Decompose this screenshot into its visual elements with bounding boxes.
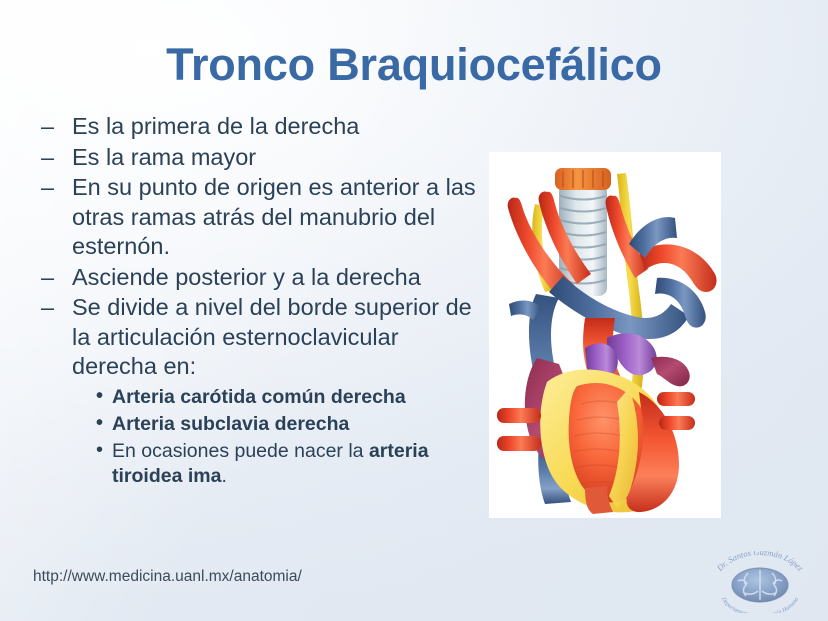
dot-marker-icon: • — [96, 411, 103, 436]
dash-marker-icon: – — [41, 263, 54, 293]
bullet-item-5: – Se divide a nivel del borde superior d… — [38, 293, 488, 382]
sub-bullet-text-3-plain: En ocasiones puede nacer la — [112, 440, 369, 462]
dot-marker-icon: • — [96, 384, 103, 409]
dot-marker-icon: • — [96, 438, 103, 463]
sub-bullet-text-1: Arteria carótida común derecha — [112, 386, 406, 408]
dash-marker-icon: – — [41, 173, 54, 203]
dash-marker-icon: – — [41, 112, 54, 142]
sub-bullet-list: • Arteria carótida común derecha • Arter… — [38, 385, 488, 489]
bullet-text-5: Se divide a nivel del borde superior de … — [72, 294, 472, 379]
sub-bullet-text-2: Arteria subclavia derecha — [112, 413, 349, 435]
dash-marker-icon: – — [41, 143, 54, 173]
bullet-text-3: En su punto de origen es anterior a las … — [72, 174, 476, 259]
brain-emblem-logo: Dr. Santos Guzmán López Departamento de … — [704, 551, 816, 613]
slide-canvas: Tronco Braquiocefálico — [0, 0, 828, 621]
bullet-text-4: Asciende posterior y a la derecha — [72, 264, 421, 290]
bullet-text-1: Es la primera de la derecha — [72, 113, 359, 139]
bullet-list: – Es la primera de la derecha – Es la ra… — [38, 112, 488, 491]
brain-icon — [732, 568, 788, 602]
sub-bullet-text-3-tail: . — [221, 465, 226, 487]
sub-bullet-item-2: • Arteria subclavia derecha — [38, 412, 488, 437]
page-title: Tronco Braquiocefálico — [0, 38, 828, 92]
bullet-item-4: – Asciende posterior y a la derecha — [38, 263, 488, 293]
sub-bullet-item-1: • Arteria carótida común derecha — [38, 385, 488, 410]
bullet-item-1: – Es la primera de la derecha — [38, 112, 488, 142]
bullet-item-3: – En su punto de origen es anterior a la… — [38, 173, 488, 262]
sub-bullet-item-3: • En ocasiones puede nacer la arteria ti… — [38, 439, 488, 489]
bullet-text-2: Es la rama mayor — [72, 144, 256, 170]
bullet-item-2: – Es la rama mayor — [38, 143, 488, 173]
dash-marker-icon: – — [41, 293, 54, 323]
heart-great-vessels-illustration — [489, 152, 721, 518]
footer-url[interactable]: http://www.medicina.uanl.mx/anatomia/ — [33, 568, 302, 586]
